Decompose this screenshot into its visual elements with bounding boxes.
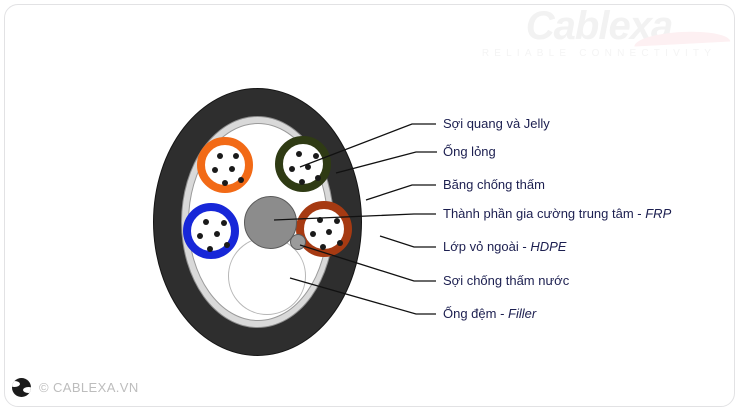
callout-label-bang-chong-tham: Băng chống thấm	[443, 178, 545, 192]
leader-thanh-phan-gia-cuong	[274, 214, 436, 220]
leader-soi-chong-tham-nuoc	[300, 245, 436, 281]
leader-soi-quang-va-jelly	[300, 124, 436, 167]
callout-label-lop-vo-ngoai: Lớp vỏ ngoài - HDPE	[443, 240, 566, 254]
leader-ong-long	[336, 152, 437, 173]
cablexa-swirl-logo-icon	[12, 378, 31, 397]
callout-label-thanh-phan-gia-cuong: Thành phần gia cường trung tâm - FRP	[443, 207, 671, 221]
diagram-canvas: Cablexa RELIABLE CONNECTIVITY	[0, 0, 740, 412]
callout-label-soi-chong-tham-nuoc: Sợi chống thấm nước	[443, 274, 569, 288]
callout-label-soi-quang-va-jelly: Sợi quang và Jelly	[443, 117, 550, 131]
leader-ong-dem	[290, 278, 436, 314]
copyright-text: © CABLEXA.VN	[39, 380, 139, 395]
leader-lop-vo-ngoai	[380, 236, 436, 247]
footer-bar: © CABLEXA.VN	[12, 375, 139, 399]
callout-label-ong-dem: Ống đệm - Filler	[443, 307, 536, 321]
callout-label-ong-long: Ống lỏng	[443, 145, 496, 159]
leader-bang-chong-tham	[366, 185, 436, 200]
